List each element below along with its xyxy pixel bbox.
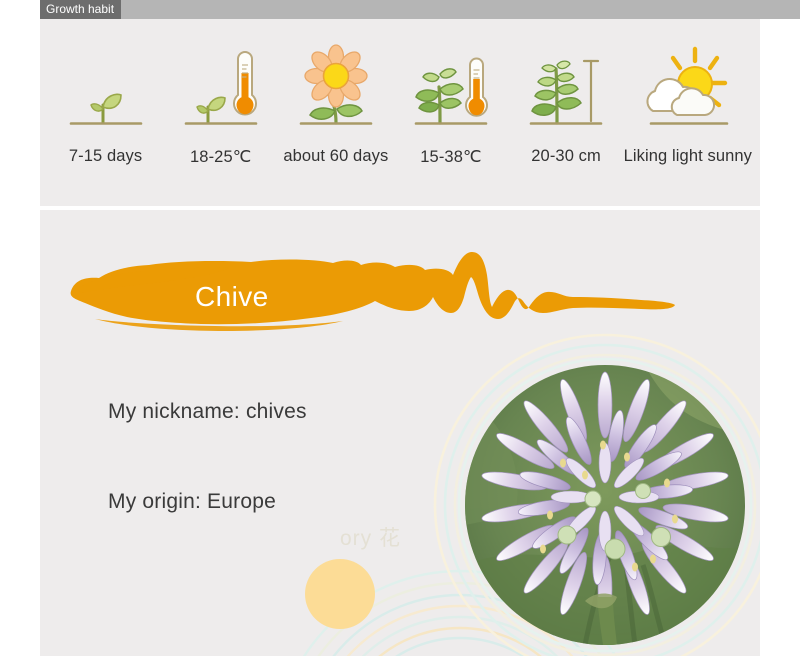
tab-growth-habit[interactable]: Growth habit [40,0,121,19]
flower-icon [278,43,393,135]
habit-item-germination: 7-15 days [48,43,163,166]
sprout-icon [48,43,163,135]
habit-item-height: 20-30 cm [509,43,624,166]
profile-panel: Chive My nickname: chives My origin: Eur… [40,210,760,656]
tab-bar: Growth habit [40,0,800,19]
sun-cloud-icon [624,43,752,135]
plant-height-ruler-icon [509,43,624,135]
habit-label: about 60 days [283,147,388,166]
flower-photo-wrap [430,330,760,656]
chive-blossom-photo [465,365,745,645]
watermark-text: ory 花 [340,522,401,552]
origin-text: My origin: Europe [108,490,276,514]
habit-label: Liking light sunny [624,147,752,166]
habit-label: 20-30 cm [531,147,601,166]
sprout-thermometer-icon [163,43,278,135]
habit-label: 18-25℃ [190,147,251,167]
brush-banner: Chive [65,245,680,340]
banner-title: Chive [195,281,269,313]
nickname-text: My nickname: chives [108,400,307,424]
habit-item-germination-temp: 18-25℃ [163,43,278,167]
habit-item-growth-temp: 15-38℃ [393,43,508,167]
growth-habit-panel: 7-15 days [40,19,760,206]
habit-item-light: Liking light sunny [624,43,752,166]
decorative-dot [305,559,375,629]
plant-thermometer-icon [393,43,508,135]
habit-item-bloom: about 60 days [278,43,393,166]
growth-habit-icon-row: 7-15 days [40,19,760,206]
habit-label: 15-38℃ [420,147,481,167]
habit-label: 7-15 days [69,147,142,166]
